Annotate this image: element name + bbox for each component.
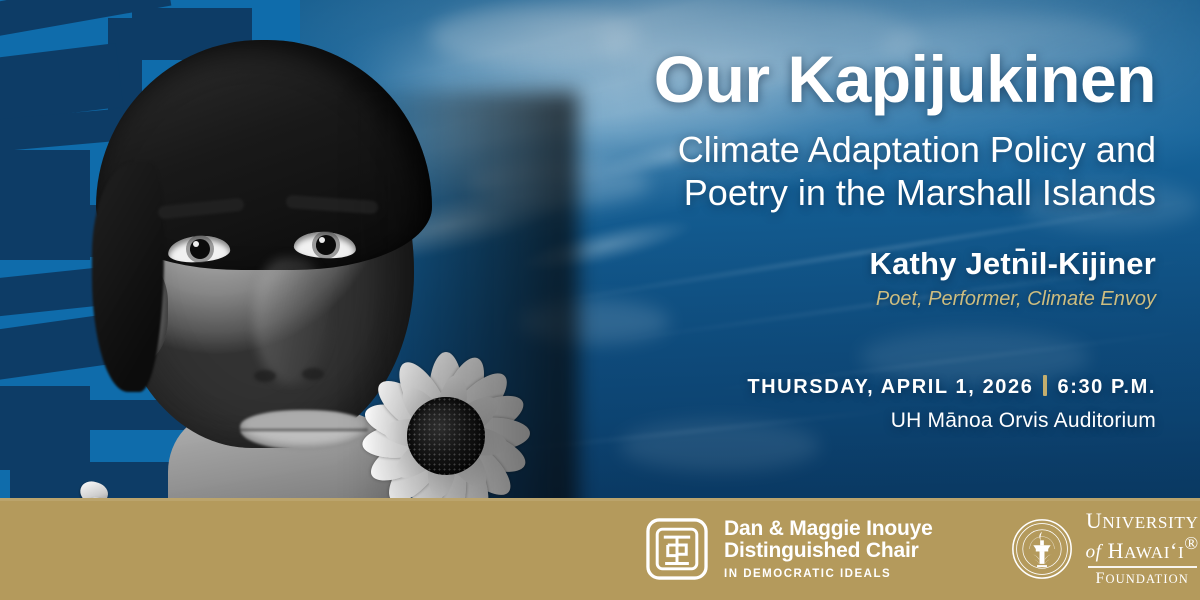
uhf-line-university: UNIVERSITY <box>1086 510 1199 533</box>
portrait-hair-side <box>92 162 164 392</box>
inouye-line-1: Dan & Maggie Inouye <box>724 518 933 540</box>
event-date: THURSDAY, APRIL 1, 2026 <box>747 376 1033 398</box>
portrait-eye-highlight <box>193 241 199 247</box>
speaker-name: Kathy Jetn̄il-Kijiner <box>516 246 1156 282</box>
datetime-separator-icon <box>1043 375 1047 396</box>
inouye-logo-text: Dan & Maggie Inouye Distinguished Chair … <box>724 518 933 580</box>
speaker-role: Poet, Performer, Climate Envoy <box>516 288 1156 311</box>
subtitle-line-2: Poetry in the Marshall Islands <box>516 172 1156 214</box>
uhf-line-hawaii: of HAWAIʻI® <box>1086 534 1199 562</box>
event-poster: Our Kapijukinen Climate Adaptation Polic… <box>0 0 1200 600</box>
inouye-line-2: Distinguished Chair <box>724 540 933 562</box>
sponsor-logos: Dan & Maggie Inouye Distinguished Chair … <box>586 498 1199 600</box>
portrait-nose <box>254 258 328 384</box>
poster-text-block: Our Kapijukinen Climate Adaptation Polic… <box>516 0 1156 433</box>
portrait-nostril <box>254 370 276 382</box>
uhf-of-text: of <box>1086 542 1102 563</box>
uhf-hawaii-text: HAWAIʻI <box>1108 538 1185 563</box>
sponsor-bar: Dan & Maggie Inouye Distinguished Chair … <box>0 498 1200 600</box>
uh-foundation-logo: UNIVERSITY of HAWAIʻI® FOUNDATION <box>1011 510 1199 587</box>
portrait-eye-highlight <box>319 237 325 243</box>
registered-trademark-icon: ® <box>1184 533 1199 553</box>
page-title: Our Kapijukinen <box>516 46 1156 113</box>
subtitle-line-1: Climate Adaptation Policy and <box>516 129 1156 171</box>
inouye-tagline: IN DEMOCRATIC IDEALS <box>724 568 933 580</box>
uh-foundation-wordmark: UNIVERSITY of HAWAIʻI® FOUNDATION <box>1086 510 1199 587</box>
inouye-monogram-icon <box>644 516 710 582</box>
uhf-line-foundation: FOUNDATION <box>1086 571 1199 588</box>
event-venue: UH Mānoa Orvis Auditorium <box>516 409 1156 433</box>
uhf-university-text: UNIVERSITY <box>1086 508 1199 533</box>
portrait-nostril <box>302 368 324 380</box>
poster-subtitle: Climate Adaptation Policy and Poetry in … <box>516 129 1156 214</box>
university-of-hawaii-seal-icon <box>1011 518 1073 580</box>
uhf-divider <box>1088 566 1197 568</box>
inouye-distinguished-chair-logo: Dan & Maggie Inouye Distinguished Chair … <box>644 516 933 582</box>
event-time: 6:30 P.M. <box>1057 376 1156 398</box>
event-datetime: THURSDAY, APRIL 1, 20266:30 P.M. <box>516 375 1156 399</box>
